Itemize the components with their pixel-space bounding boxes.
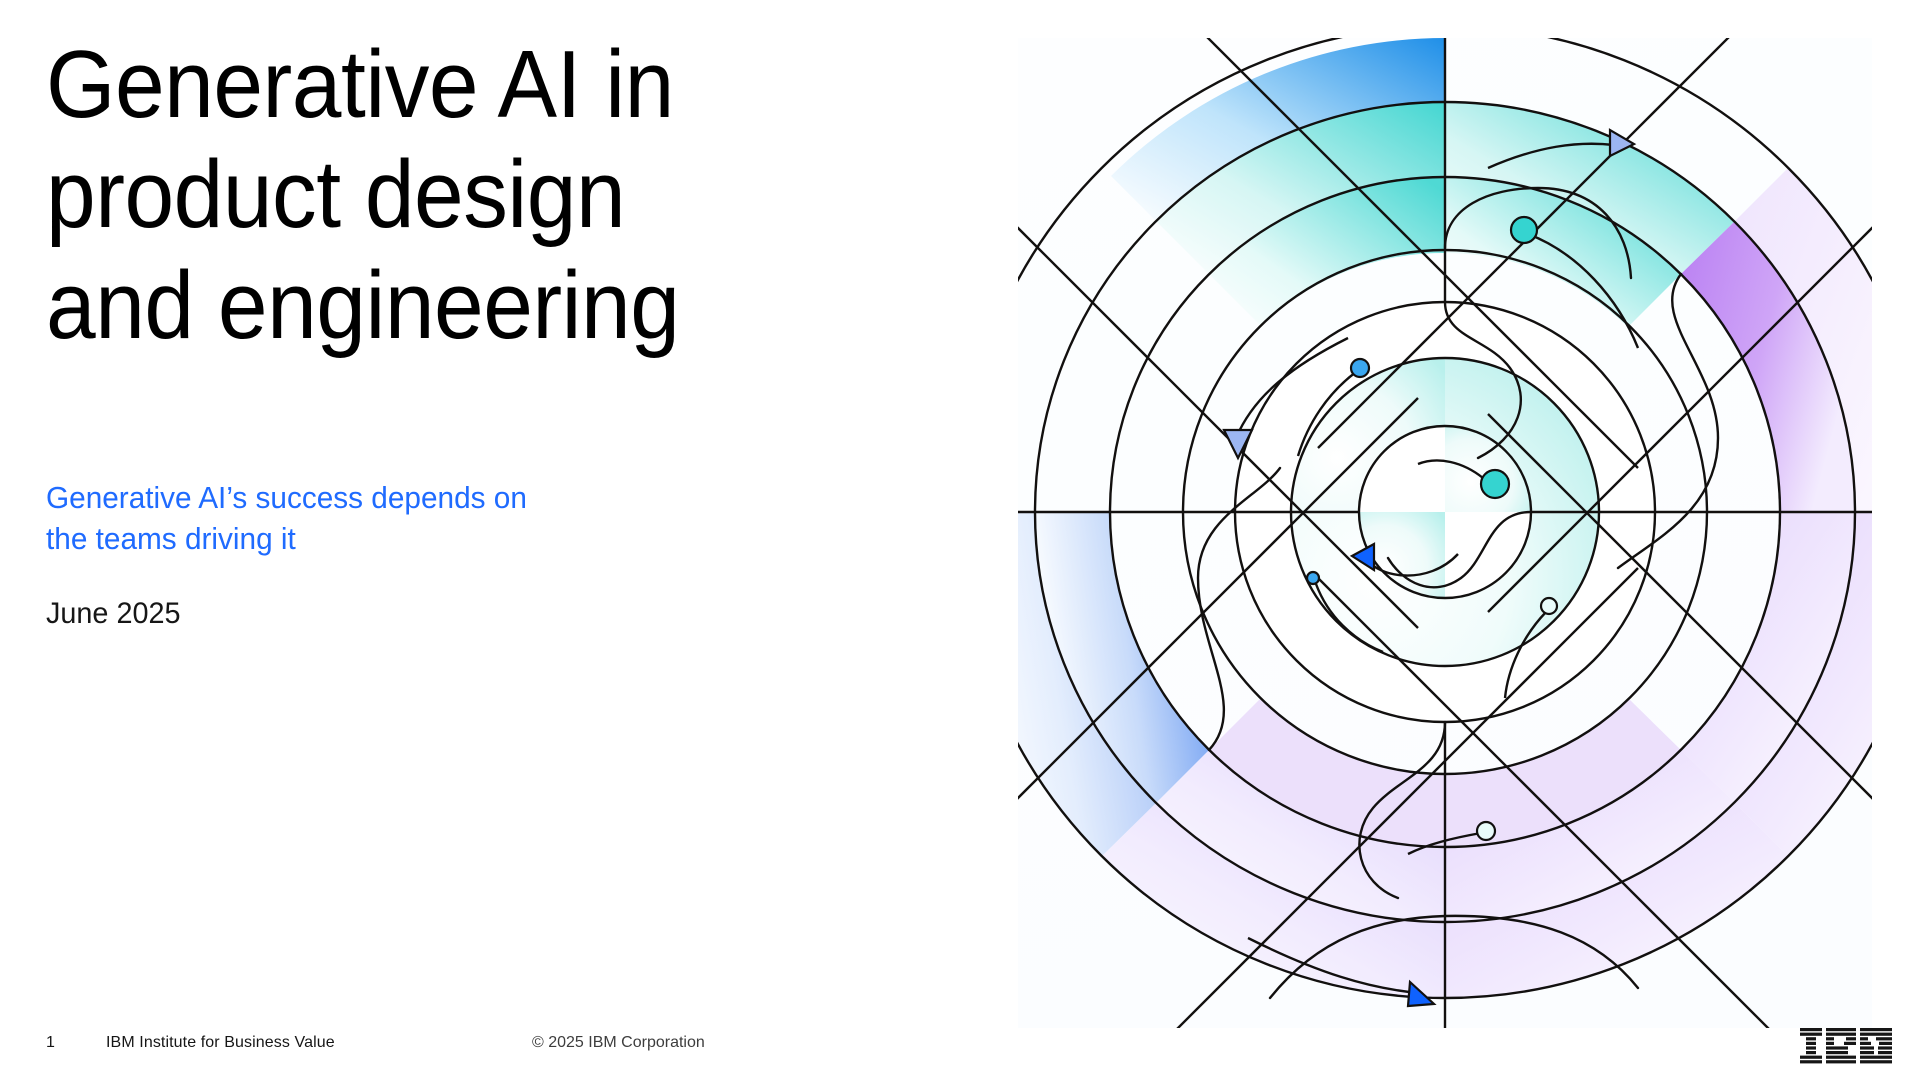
dot-blue-small: [1307, 572, 1319, 584]
dot-pale-outline: [1541, 598, 1557, 614]
dot-blue-medium: [1351, 359, 1369, 377]
cover-artwork: [1018, 38, 1872, 1028]
footer-organization: IBM Institute for Business Value: [106, 1034, 335, 1052]
dot-pale-outline-lower: [1477, 822, 1495, 840]
slide-root: Generative AI in product design and engi…: [0, 0, 1920, 1080]
page-subtitle: Generative AI’s success depends on the t…: [46, 478, 660, 560]
page-number: 1: [46, 1034, 55, 1052]
dot-cyan-large: [1511, 217, 1537, 243]
footer: 1 IBM Institute for Business Value © 202…: [0, 1034, 1920, 1062]
dot-cyan-medium: [1481, 470, 1509, 498]
footer-copyright: © 2025 IBM Corporation: [532, 1034, 705, 1052]
publication-date: June 2025: [46, 597, 181, 631]
title-block: Generative AI in product design and engi…: [46, 30, 946, 361]
concentric-radial-diagram: [1018, 38, 1872, 1028]
page-title: Generative AI in product design and engi…: [46, 30, 883, 361]
ibm-logo: [1800, 1028, 1892, 1064]
